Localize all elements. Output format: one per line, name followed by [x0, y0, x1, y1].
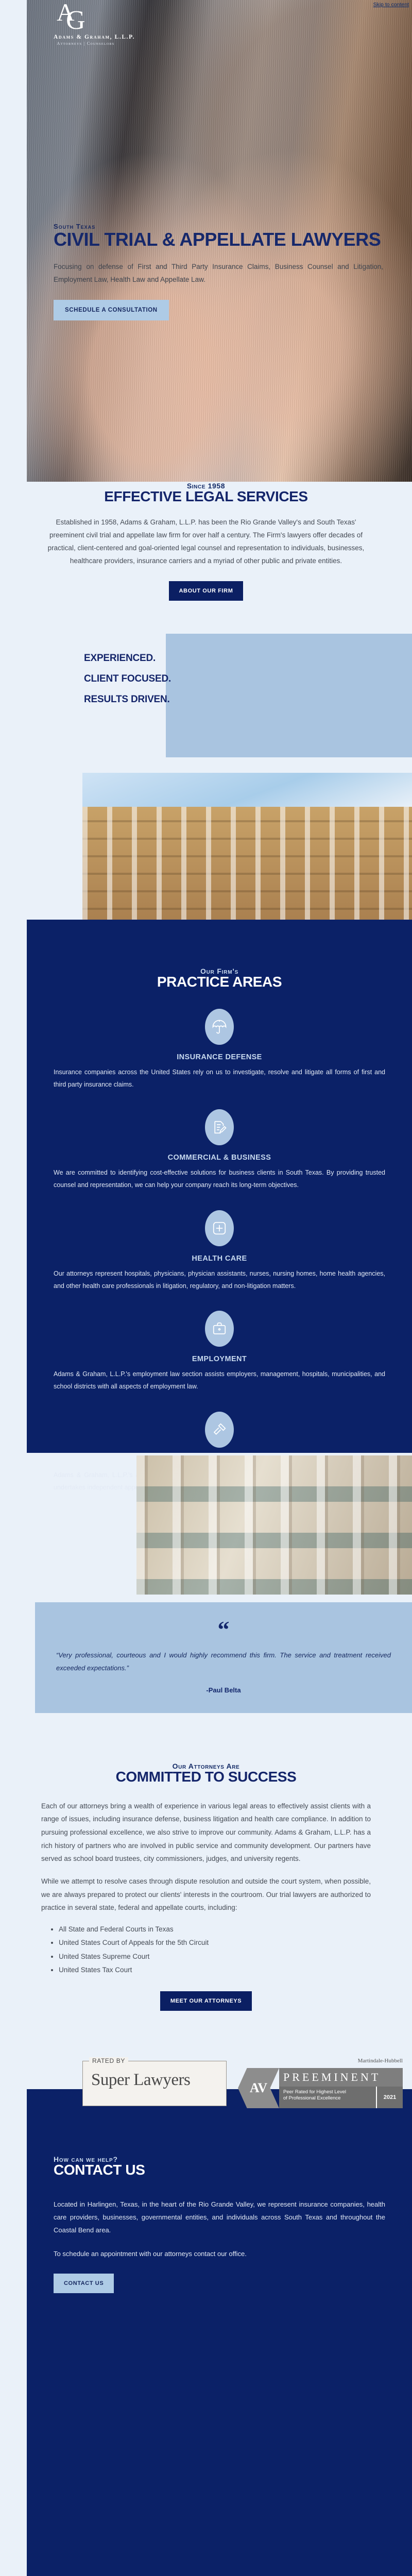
practice-area-desc: We are committed to identifying cost-eff…: [54, 1167, 385, 1192]
list-item: United States Supreme Court: [59, 1950, 371, 1963]
about-body: Established in 1958, Adams & Graham, L.L…: [45, 516, 367, 568]
schedule-consultation-button[interactable]: SCHEDULE A CONSULTATION: [54, 300, 169, 320]
site-logo[interactable]: A G Adams & Graham, L.L.P. Attorneys | C…: [54, 4, 135, 46]
tagline-line-1: EXPERIENCED.: [84, 648, 300, 669]
committed-paragraph-1: Each of our attorneys bring a wealth of …: [41, 1800, 371, 1866]
practice-title: PRACTICE AREAS: [54, 974, 385, 990]
contact-paragraph-2: To schedule an appointment with our atto…: [54, 2247, 385, 2260]
hero-section: A G Adams & Graham, L.L.P. Attorneys | C…: [27, 0, 412, 482]
briefcase-icon: [205, 1311, 234, 1347]
martindale-hubbell-label: Martindale-Hubbell: [358, 2058, 403, 2064]
hero-content: South Texas CIVIL TRIAL & APPELLATE LAWY…: [54, 223, 383, 320]
contact-section: How can we help? CONTACT US Located in H…: [27, 2089, 412, 2576]
medical-cross-icon: [205, 1210, 234, 1246]
av-peer-line-1: Peer Rated for Highest Level: [283, 2089, 346, 2095]
testimonial-author: -Paul Belta: [35, 1686, 412, 1694]
testimonial-quote: “Very professional, courteous and I woul…: [56, 1649, 391, 1675]
about-title: EFFECTIVE LEGAL SERVICES: [0, 489, 412, 505]
list-item: United States Tax Court: [59, 1963, 371, 1977]
about-section: Since 1958 EFFECTIVE LEGAL SERVICES Esta…: [0, 482, 412, 601]
list-item: All State and Federal Courts in Texas: [59, 1923, 371, 1936]
testimonial-section: “ “Very professional, courteous and I wo…: [35, 1602, 412, 1713]
av-peer-rating-text: Peer Rated for Highest Level of Professi…: [279, 2087, 377, 2108]
quote-icon: “: [35, 1602, 412, 1641]
practice-area-desc: Our attorneys represent hospitals, physi…: [54, 1268, 385, 1293]
practice-areas-section: Our Firm's PRACTICE AREAS INSURANCE DEFE…: [27, 920, 412, 1453]
contact-us-button[interactable]: CONTACT US: [54, 2274, 114, 2293]
practice-area-title: COMMERCIAL & BUSINESS: [54, 1154, 385, 1162]
logo-tagline: Attorneys | Counselors: [54, 41, 118, 46]
committed-section: Our Attorneys Are COMMITTED TO SUCCESS E…: [0, 1762, 412, 2011]
practice-area-desc: Insurance companies across the United St…: [54, 1066, 385, 1091]
logo-firm-name: Adams & Graham, L.L.P.: [54, 34, 135, 40]
contact-title: CONTACT US: [54, 2162, 385, 2178]
committed-title: COMMITTED TO SUCCESS: [0, 1769, 412, 1785]
super-lawyers-rated-by: RATED BY: [89, 2057, 128, 2064]
practice-area-title: HEALTH CARE: [54, 1255, 385, 1263]
practice-area-item[interactable]: COMMERCIAL & BUSINESS We are committed t…: [54, 1109, 385, 1192]
hero-title: CIVIL TRIAL & APPELLATE LAWYERS: [54, 230, 383, 249]
list-item: United States Court of Appeals for the 5…: [59, 1936, 371, 1950]
logo-monogram: A G: [54, 4, 135, 30]
tagline-line-3: RESULTS DRIVEN.: [84, 689, 300, 710]
practice-area-title: EMPLOYMENT: [54, 1355, 385, 1363]
contract-signing-icon: [205, 1109, 234, 1145]
av-year: 2021: [377, 2087, 403, 2108]
federal-courthouse-photo: [136, 1455, 412, 1595]
about-our-firm-button[interactable]: ABOUT OUR FIRM: [169, 581, 244, 601]
committed-paragraph-2: While we attempt to resolve cases throug…: [41, 1875, 371, 1914]
gavel-icon: [205, 1412, 234, 1448]
practice-area-title: INSURANCE DEFENSE: [54, 1053, 385, 1061]
courthouse-photo: [82, 773, 412, 927]
practice-area-desc: Adams & Graham, L.L.P.'s employment law …: [54, 1368, 385, 1393]
contact-paragraph-1: Located in Harlingen, Texas, in the hear…: [54, 2198, 385, 2237]
av-level-label: PREEMINENT: [279, 2068, 403, 2087]
av-peer-line-2: of Professional Excellence: [283, 2095, 340, 2101]
practice-area-item[interactable]: HEALTH CARE Our attorneys represent hosp…: [54, 1210, 385, 1293]
super-lawyers-badge: RATED BY Super Lawyers: [82, 2061, 227, 2106]
hero-description: Focusing on defense of First and Third P…: [54, 261, 383, 286]
meet-our-attorneys-button[interactable]: MEET OUR ATTORNEYS: [160, 1991, 252, 2011]
tagline-band: EXPERIENCED. CLIENT FOCUSED. RESULTS DRI…: [84, 648, 300, 710]
super-lawyers-name: Super Lawyers: [91, 2069, 218, 2092]
tagline-line-2: CLIENT FOCUSED.: [84, 669, 300, 689]
av-preeminent-badge: Martindale-Hubbell AV PREEMINENT Peer Ra…: [238, 2061, 403, 2108]
awards-badges: RATED BY Super Lawyers Martindale-Hubbel…: [82, 2061, 412, 2123]
logo-letter-g: G: [66, 11, 135, 30]
av-grade: AV: [238, 2068, 279, 2108]
skip-to-content-link[interactable]: Skip to content: [373, 2, 409, 8]
practice-area-item[interactable]: INSURANCE DEFENSE Insurance companies ac…: [54, 1009, 385, 1091]
courts-list: All State and Federal Courts in Texas Un…: [41, 1923, 371, 1977]
umbrella-icon: [205, 1009, 234, 1045]
practice-area-item[interactable]: EMPLOYMENT Adams & Graham, L.L.P.'s empl…: [54, 1311, 385, 1393]
